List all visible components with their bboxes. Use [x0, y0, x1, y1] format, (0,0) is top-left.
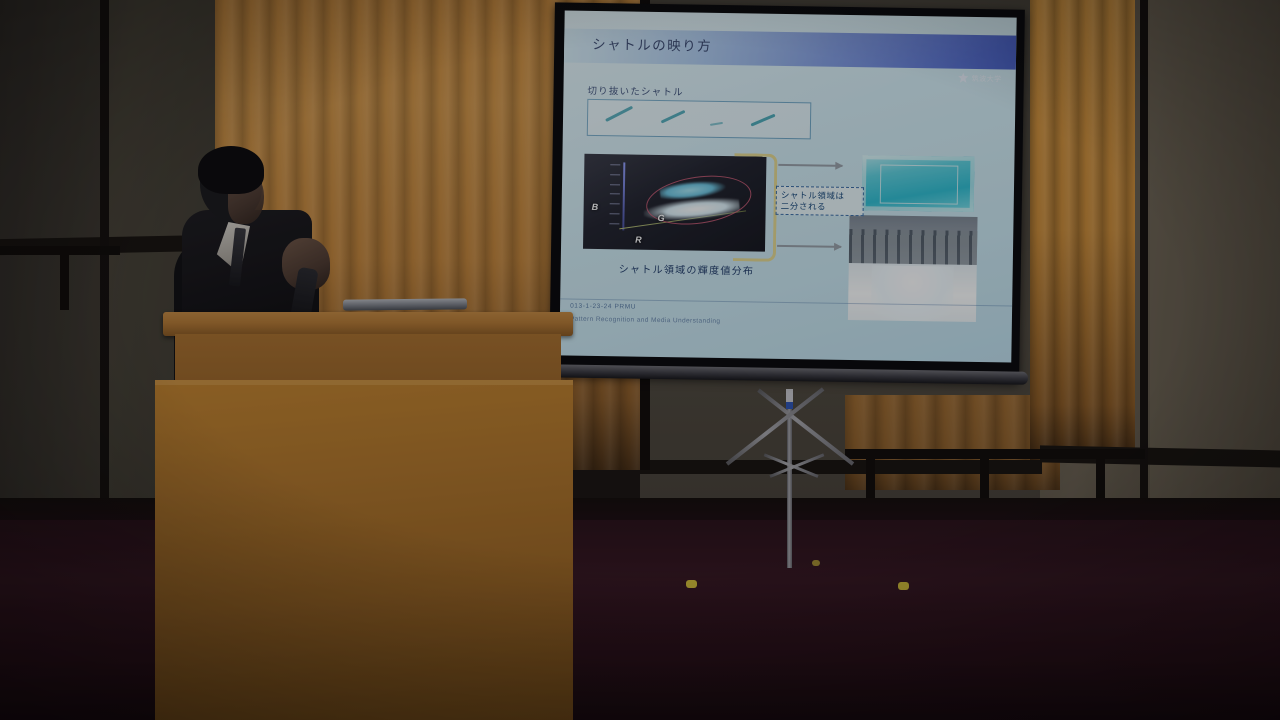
- callout-line-2: 二分される: [781, 201, 859, 213]
- handrail-post-left: [60, 250, 69, 310]
- shuttle-stroke: [750, 114, 775, 127]
- slide-title: シャトルの映り方: [592, 33, 712, 55]
- plot-y-ticks: [609, 164, 620, 224]
- laptop: [343, 298, 467, 310]
- presentation-slide: シャトルの映り方 筑波大学 切り抜いたシャトル: [559, 10, 1016, 362]
- tripod-center-column: [787, 408, 792, 568]
- podium-top-surface: [163, 312, 573, 336]
- callout-line-1: シャトル領域は: [781, 190, 859, 202]
- callout-box: シャトル領域は 二分される: [776, 186, 864, 217]
- university-logo: 筑波大学: [958, 73, 1002, 85]
- wall-right-corner: [1150, 0, 1280, 560]
- axis-label-b: B: [592, 202, 599, 212]
- axis-label-r: R: [635, 235, 642, 245]
- tripod-foot-right: [898, 582, 909, 590]
- photo-court-teal: [862, 155, 975, 212]
- tripod-foot-rear: [812, 560, 820, 566]
- stage-curtain-right: [1030, 0, 1135, 460]
- photo-bright-glow: [871, 266, 954, 322]
- presenter-hair: [198, 146, 264, 194]
- slide-footer-line-2: Pattern Recognition and Media Understand…: [570, 316, 721, 325]
- plot-caption: シャトル領域の輝度値分布: [619, 260, 755, 277]
- axis-label-g: G: [657, 213, 664, 223]
- tripod-blue-marker: [786, 402, 793, 409]
- plot-b-axis: [622, 162, 625, 230]
- wall-left-corner: [0, 0, 105, 560]
- projector-screen: シャトルの映り方 筑波大学 切り抜いたシャトル: [559, 10, 1016, 362]
- photo-railing: [849, 229, 978, 265]
- shuttle-stroke: [605, 106, 633, 122]
- shuttle-stroke: [661, 110, 686, 124]
- yellow-bracket: [733, 153, 778, 262]
- university-logo-text: 筑波大学: [972, 73, 1002, 83]
- shuttle-stroke: [710, 122, 723, 126]
- stage-curtain-center: [845, 395, 1060, 490]
- handrail-right: [845, 449, 1145, 459]
- podium-upper-body: [175, 334, 561, 386]
- university-crest-icon: [958, 73, 969, 84]
- slide-section-label: 切り抜いたシャトル: [587, 83, 684, 99]
- photo-court-bright: [848, 215, 978, 322]
- tripod-cap: [786, 389, 793, 403]
- cropped-shuttle-strip: [587, 99, 812, 140]
- wall-seam-left: [100, 0, 109, 560]
- tripod-foot-left: [686, 580, 697, 588]
- podium-front-panel: [155, 380, 573, 720]
- arrow-to-bright-photo: [777, 245, 841, 248]
- slide-footer-line-1: 013-1-23-24 PRMU: [570, 303, 636, 311]
- podium-edge-highlight: [155, 380, 573, 385]
- presentation-photo: シャトルの映り方 筑波大学 切り抜いたシャトル: [0, 0, 1280, 720]
- arrow-to-teal-photo: [778, 164, 842, 167]
- wall-seam-right: [1140, 0, 1148, 560]
